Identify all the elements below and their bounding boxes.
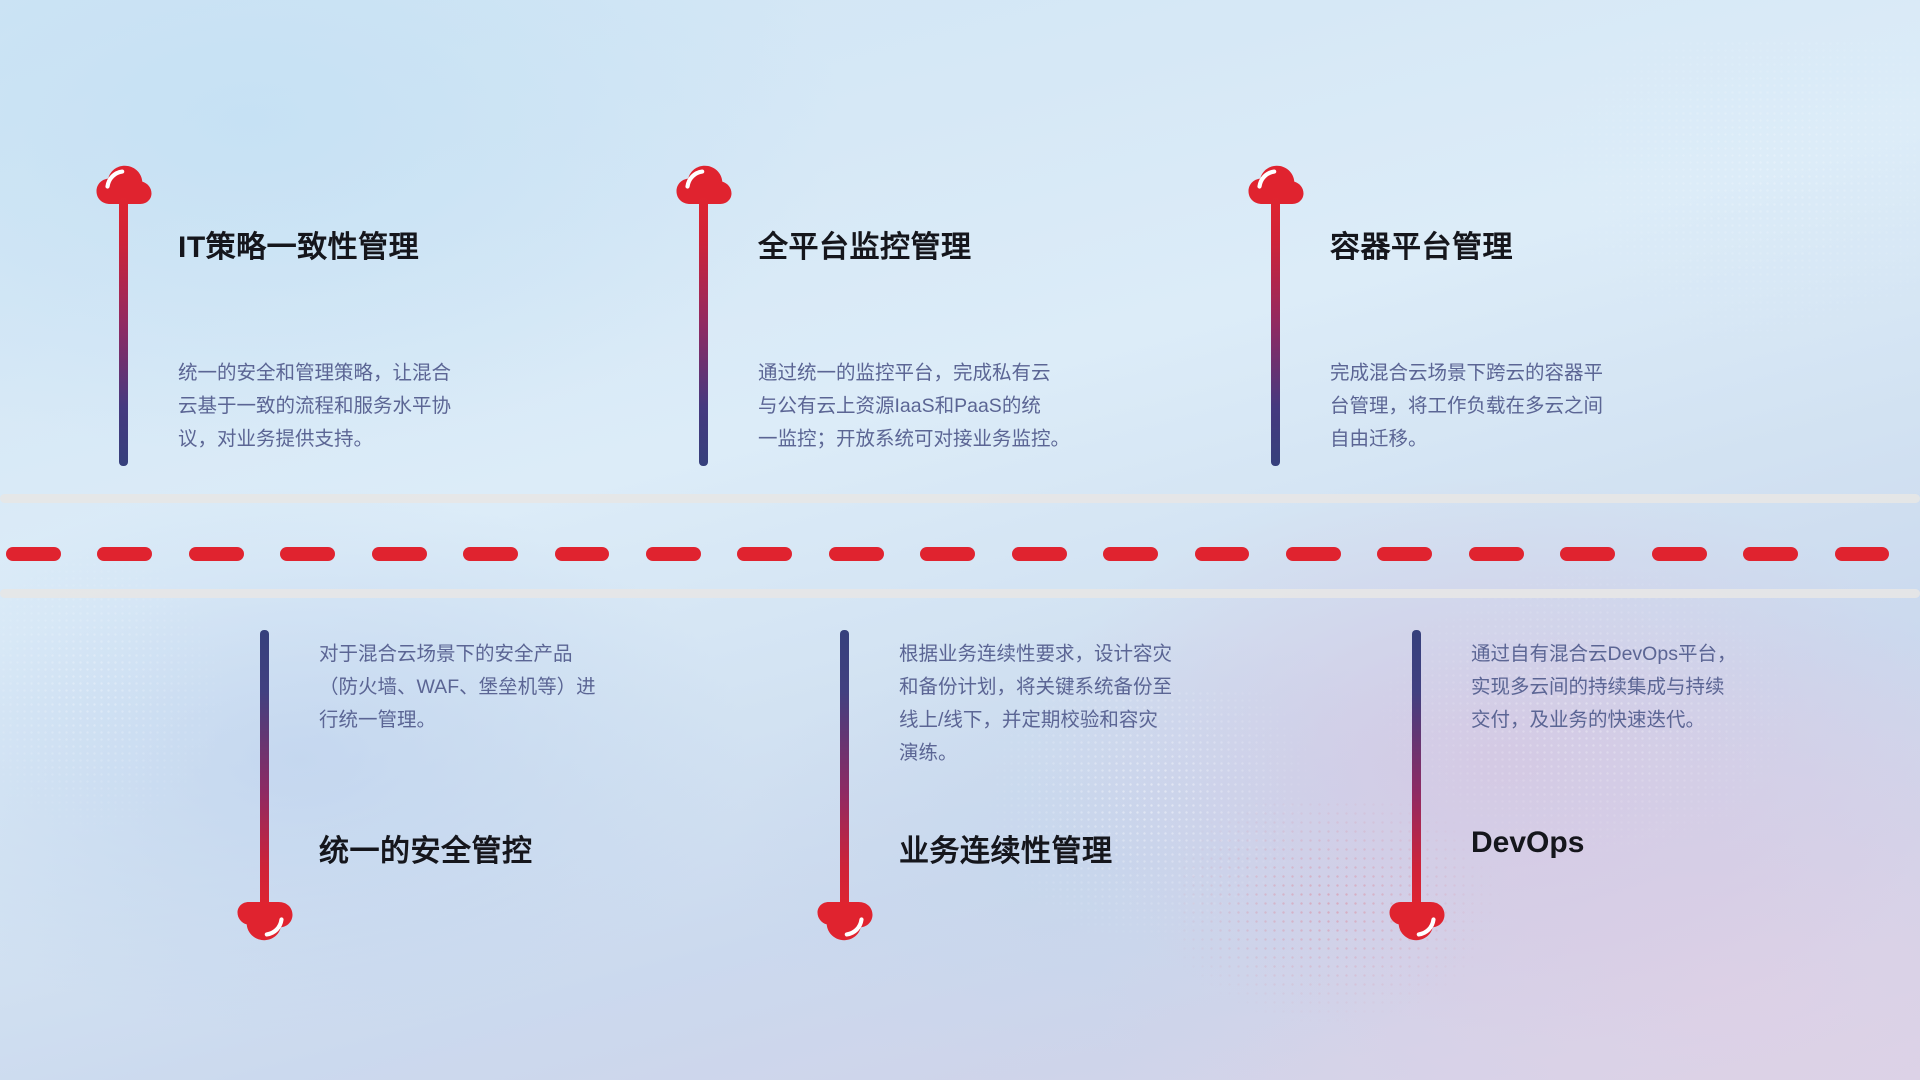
road-dash (555, 547, 610, 561)
connector-bar (119, 198, 128, 466)
road-dash (280, 547, 335, 561)
road-dash (1195, 547, 1250, 561)
column-body: 对于混合云场景下的安全产品 （防火墙、WAF、堡垒机等）进 行统一管理。 (319, 638, 734, 737)
road-dash (1743, 547, 1798, 561)
column-title: 容器平台管理 (1330, 222, 1513, 266)
connector-bar (699, 198, 708, 466)
road-dash (829, 547, 884, 561)
road-dash (1286, 547, 1341, 561)
column-title: IT策略一致性管理 (178, 222, 419, 266)
column-body: 通过统一的监控平台，完成私有云 与公有云上资源IaaS和PaaS的统 一监控；开… (758, 357, 1130, 456)
cloud-icon (236, 900, 294, 942)
column-body: 统一的安全和管理策略，让混合 云基于一致的流程和服务水平协 议，对业务提供支持。 (178, 357, 528, 456)
road-dash (920, 547, 975, 561)
cloud-icon (1388, 900, 1446, 942)
road-dash (1652, 547, 1707, 561)
column-body: 完成混合云场景下跨云的容器平 台管理，将工作负载在多云之间 自由迁移。 (1330, 357, 1680, 456)
road-dash (372, 547, 427, 561)
column-title: 全平台监控管理 (758, 222, 972, 266)
road-dash (1469, 547, 1524, 561)
texture-dots-topright (1540, 40, 1920, 360)
connector-bar (260, 630, 269, 910)
connector-bar (1271, 198, 1280, 466)
texture-dots-left (0, 540, 230, 840)
column-body: 根据业务连续性要求，设计容灾 和备份计划，将关键系统备份至 线上/线下，并定期校… (899, 638, 1314, 770)
road-dash (1103, 547, 1158, 561)
road-dash (6, 547, 61, 561)
infographic-canvas: IT策略一致性管理 统一的安全和管理策略，让混合 云基于一致的流程和服务水平协 … (0, 0, 1920, 1080)
road-upper-line (0, 494, 1920, 503)
road-lower-line (0, 589, 1920, 598)
road-dash (97, 547, 152, 561)
road-dash (1835, 547, 1890, 561)
column-title: 业务连续性管理 (899, 826, 1113, 870)
road-dash (463, 547, 518, 561)
cloud-icon (816, 900, 874, 942)
column-body: 通过自有混合云DevOps平台， 实现多云间的持续集成与持续 交付，及业务的快速… (1471, 638, 1871, 737)
road-dash (1377, 547, 1432, 561)
road-dash (1560, 547, 1615, 561)
road-center-dashes (0, 547, 1920, 561)
road-dash (1012, 547, 1067, 561)
road-dash (737, 547, 792, 561)
column-title: DevOps (1471, 826, 1584, 860)
texture-dots-red (1180, 800, 1510, 1030)
connector-bar (1412, 630, 1421, 910)
road-dash (646, 547, 701, 561)
column-title: 统一的安全管控 (319, 826, 533, 870)
connector-bar (840, 630, 849, 910)
road-dash (189, 547, 244, 561)
